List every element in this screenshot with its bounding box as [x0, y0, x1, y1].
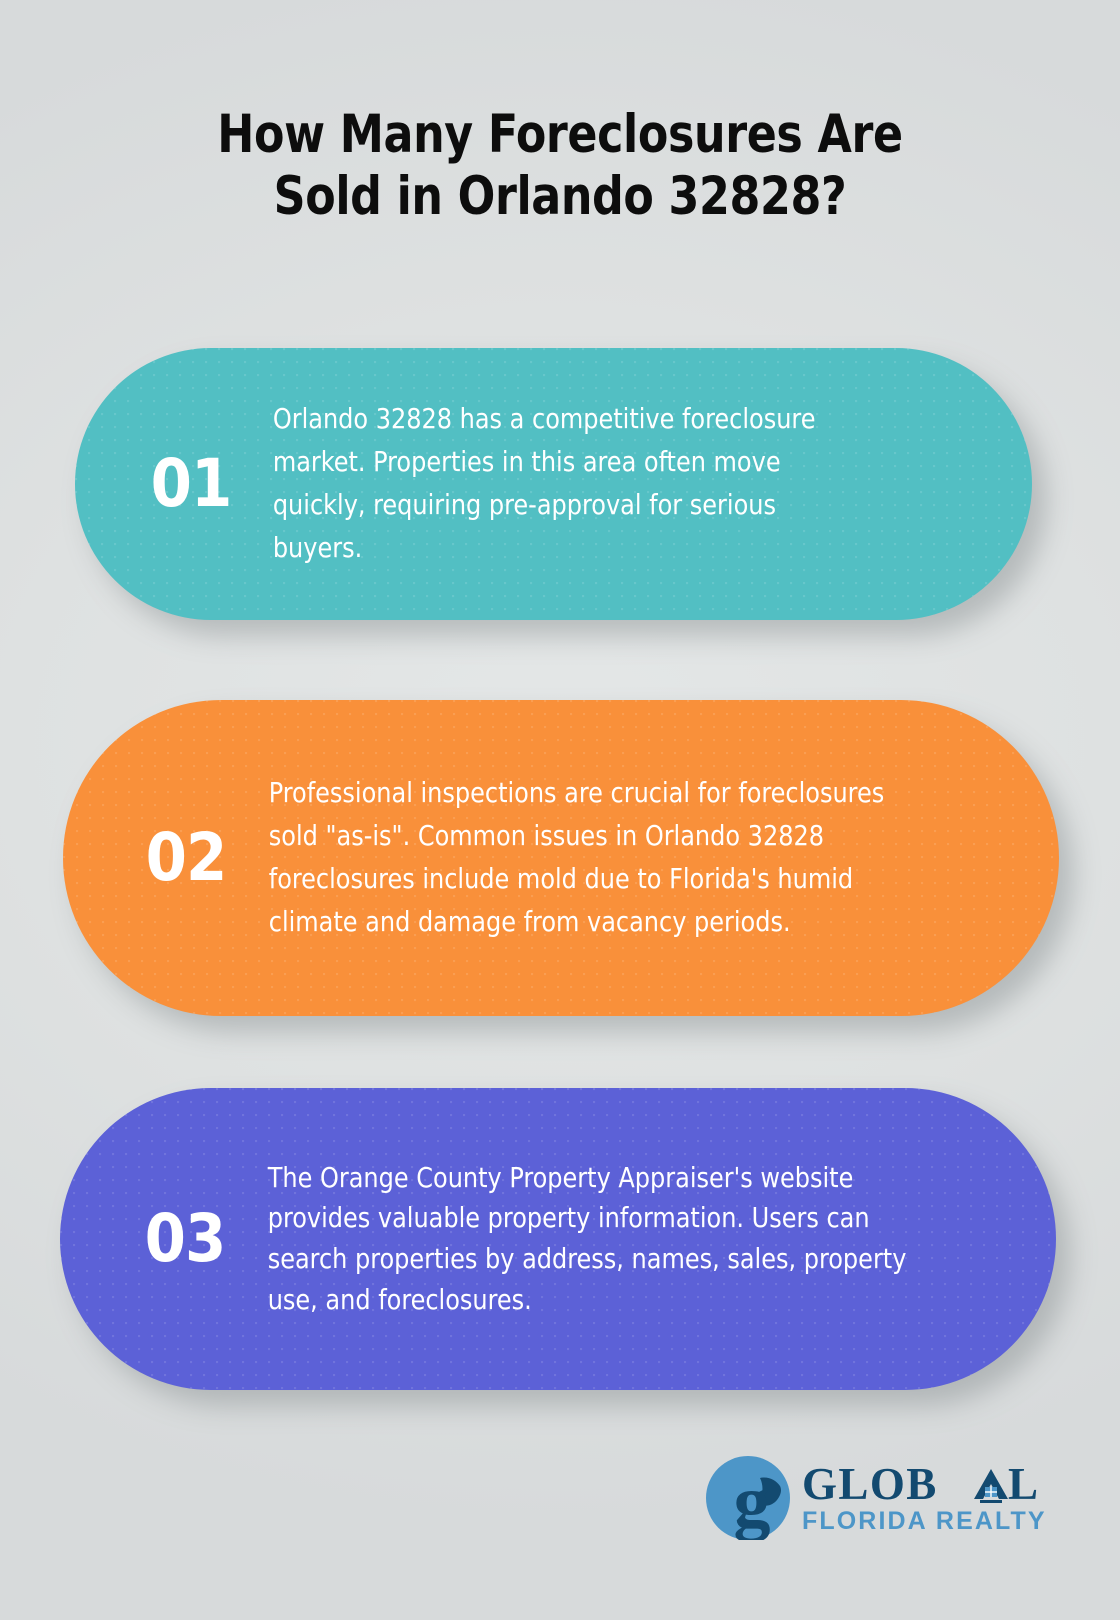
card-number-01: 01 [115, 451, 267, 517]
brand-global-text: GLOB L [802, 1460, 1047, 1508]
svg-text:L: L [1008, 1460, 1039, 1508]
page-title-line-1: How Many Foreclosures Are [217, 104, 902, 165]
card-number-02: 02 [111, 825, 261, 891]
info-card-03: 03 The Orange County Property Appraiser'… [60, 1088, 1056, 1390]
card-number-03: 03 [112, 1206, 258, 1272]
page-title-line-2: Sold in Orlando 32828? [274, 166, 847, 227]
card-body-02: Professional inspections are crucial for… [261, 772, 996, 944]
brand-florida-realty-text: FLORIDA REALTY [802, 1509, 1047, 1534]
global-g-mark-icon: g [706, 1452, 794, 1540]
svg-text:GLOB: GLOB [802, 1460, 938, 1508]
info-card-02: 02 Professional inspections are crucial … [63, 700, 1059, 1016]
infographic-page: How Many Foreclosures Are Sold in Orland… [0, 0, 1120, 1620]
page-title-text: How Many Foreclosures Are Sold in Orland… [106, 104, 1014, 228]
card-body-03: The Orange County Property Appraiser's w… [258, 1158, 997, 1321]
card-body-01: Orlando 32828 has a competitive foreclos… [267, 398, 964, 570]
brand-logo: g GLOB L FLORIDA REALTY [706, 1448, 1036, 1544]
page-title: How Many Foreclosures Are Sold in Orland… [0, 104, 1120, 228]
info-card-01: 01 Orlando 32828 has a competitive forec… [75, 348, 1032, 620]
house-roof-a-glyph [974, 1469, 1008, 1503]
svg-text:g: g [734, 1461, 771, 1540]
brand-wordmark: GLOB L FLORIDA REALTY [794, 1460, 1047, 1534]
